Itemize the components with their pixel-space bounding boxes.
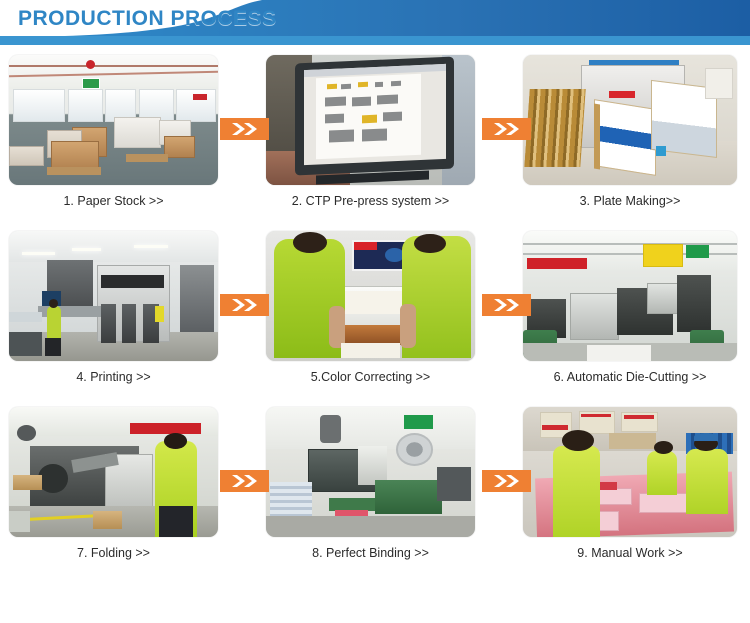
photo-plate-making [523, 55, 737, 185]
process-row-1: 1. Paper Stock >> [0, 55, 750, 231]
process-step-4[interactable]: 4. Printing >> [9, 231, 218, 384]
process-arrow-6 [482, 470, 531, 492]
step-caption: 4. Printing >> [9, 370, 218, 384]
double-chevron-right-icon [492, 122, 522, 136]
process-step-2[interactable]: 2. CTP Pre-press system >> [266, 55, 475, 208]
process-step-5[interactable]: 5.Color Correcting >> [266, 231, 475, 384]
double-chevron-right-icon [230, 122, 260, 136]
process-step-7[interactable]: 7. Folding >> [9, 407, 218, 560]
process-step-1[interactable]: 1. Paper Stock >> [9, 55, 218, 208]
step-caption: 8. Perfect Binding >> [266, 546, 475, 560]
process-arrow-4 [482, 294, 531, 316]
double-chevron-right-icon [230, 474, 260, 488]
step-caption: 5.Color Correcting >> [266, 370, 475, 384]
photo-color-correcting [266, 231, 475, 361]
process-step-8[interactable]: 8. Perfect Binding >> [266, 407, 475, 560]
step-caption: 2. CTP Pre-press system >> [266, 194, 475, 208]
step-caption: 1. Paper Stock >> [9, 194, 218, 208]
step-caption: 3. Plate Making>> [523, 194, 737, 208]
process-grid: 1. Paper Stock >> [0, 55, 750, 583]
page-header-banner: PRODUCTION PROCESS [0, 0, 750, 46]
double-chevron-right-icon [492, 298, 522, 312]
photo-automatic-die-cutting [523, 231, 737, 361]
photo-paper-stock [9, 55, 218, 185]
double-chevron-right-icon [492, 474, 522, 488]
photo-folding [9, 407, 218, 537]
process-row-3: 7. Folding >> [0, 407, 750, 583]
double-chevron-right-icon [230, 298, 260, 312]
process-row-2: 4. Printing >> [0, 231, 750, 407]
photo-perfect-binding [266, 407, 475, 537]
photo-manual-work [523, 407, 737, 537]
step-caption: 7. Folding >> [9, 546, 218, 560]
process-arrow-5 [220, 470, 269, 492]
process-arrow-2 [482, 118, 531, 140]
process-step-6[interactable]: 6. Automatic Die-Cutting >> [523, 231, 737, 384]
step-caption: 6. Automatic Die-Cutting >> [523, 370, 737, 384]
page-title: PRODUCTION PROCESS [18, 7, 277, 31]
photo-printing [9, 231, 218, 361]
process-arrow-1 [220, 118, 269, 140]
photo-ctp-prepress [266, 55, 475, 185]
step-caption: 9. Manual Work >> [523, 546, 737, 560]
process-step-9[interactable]: 9. Manual Work >> [523, 407, 737, 560]
process-arrow-3 [220, 294, 269, 316]
process-step-3[interactable]: 3. Plate Making>> [523, 55, 737, 208]
